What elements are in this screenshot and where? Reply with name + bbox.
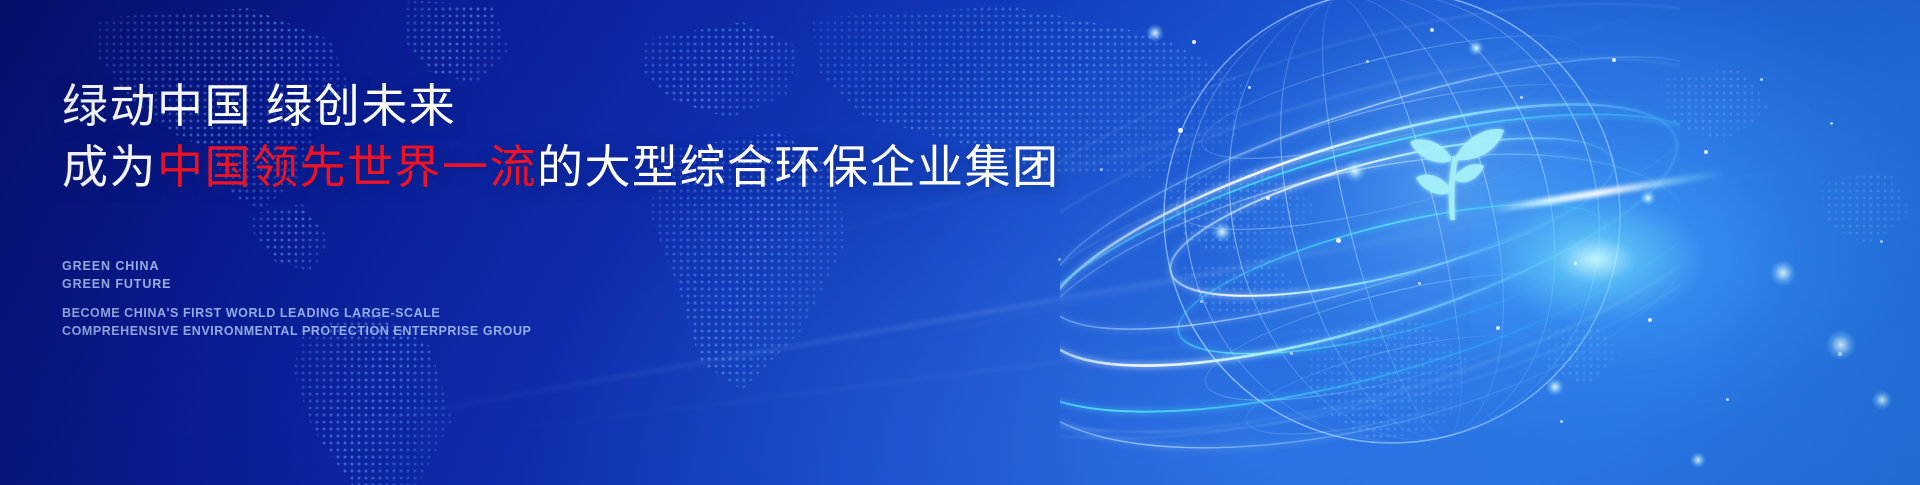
headline-block: 绿动中国 绿创未来 成为中国领先世界一流的大型综合环保企业集团 [62,76,1042,197]
subtitle-block: BECOME CHINA'S FIRST WORLD LEADING LARGE… [62,304,531,340]
hero-banner: 绿动中国 绿创未来 成为中国领先世界一流的大型综合环保企业集团 GREEN CH… [0,0,1920,485]
globe-core-glow [1470,140,1800,370]
subtitle-line-2: COMPREHENSIVE ENVIRONMENTAL PROTECTION E… [62,322,531,340]
tagline-line-1: GREEN CHINA [62,257,171,275]
headline-line-1: 绿动中国 绿创未来 [62,76,1042,137]
subtitle-line-1: BECOME CHINA'S FIRST WORLD LEADING LARGE… [62,304,531,322]
tagline-block: GREEN CHINA GREEN FUTURE [62,257,171,293]
tagline-line-2: GREEN FUTURE [62,275,171,293]
headline-line-2: 成为中国领先世界一流的大型综合环保企业集团 [62,137,1042,198]
headline-highlight: 中国领先世界一流 [157,141,537,193]
headline-suffix: 的大型综合环保企业集团 [537,141,1060,193]
headline-prefix: 成为 [62,141,157,193]
sprout-seedling-icon [1398,112,1508,227]
